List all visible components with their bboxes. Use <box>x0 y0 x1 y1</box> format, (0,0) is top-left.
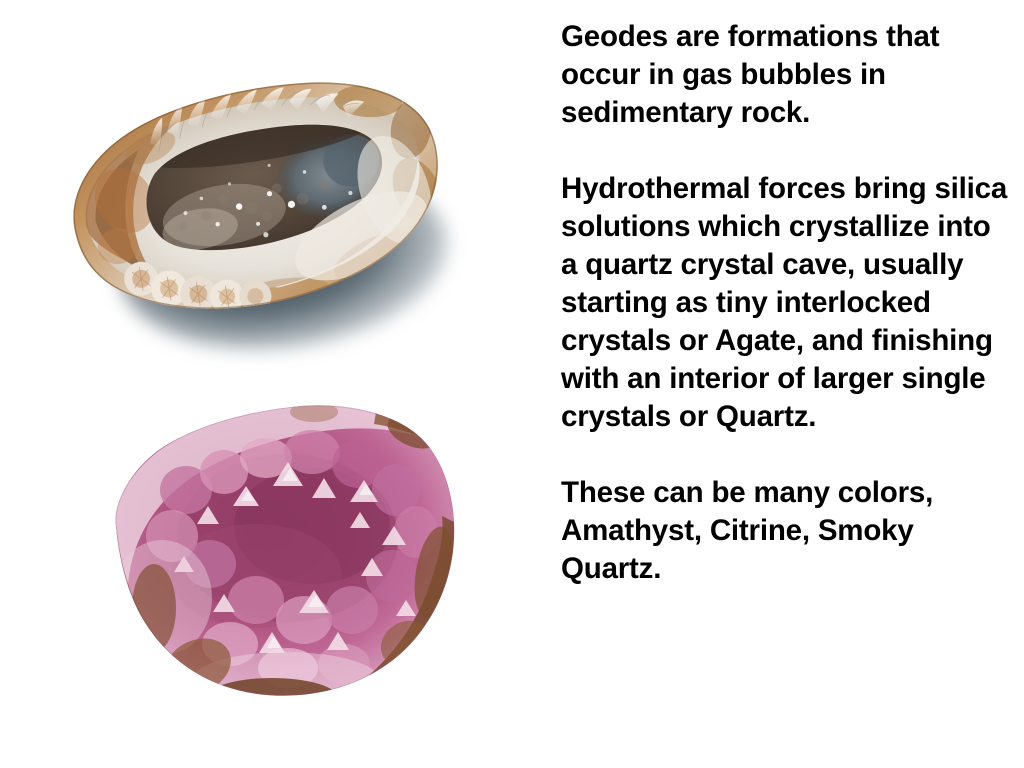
paragraph-intro: Geodes are formations that occur in gas … <box>561 18 1013 132</box>
slide-canvas: Geodes are formations that occur in gas … <box>0 0 1024 768</box>
pink-geode-image <box>76 386 476 716</box>
pink-stone-body <box>76 386 476 718</box>
pink-geode-artwork <box>76 386 476 716</box>
slide-text-column: Geodes are formations that occur in gas … <box>561 18 1013 588</box>
agate-geode-image <box>48 76 460 346</box>
paragraph-colors: These can be many colors, Amathyst, Citr… <box>561 474 1013 588</box>
paragraph-formation: Hydrothermal forces bring silica solutio… <box>561 170 1013 436</box>
